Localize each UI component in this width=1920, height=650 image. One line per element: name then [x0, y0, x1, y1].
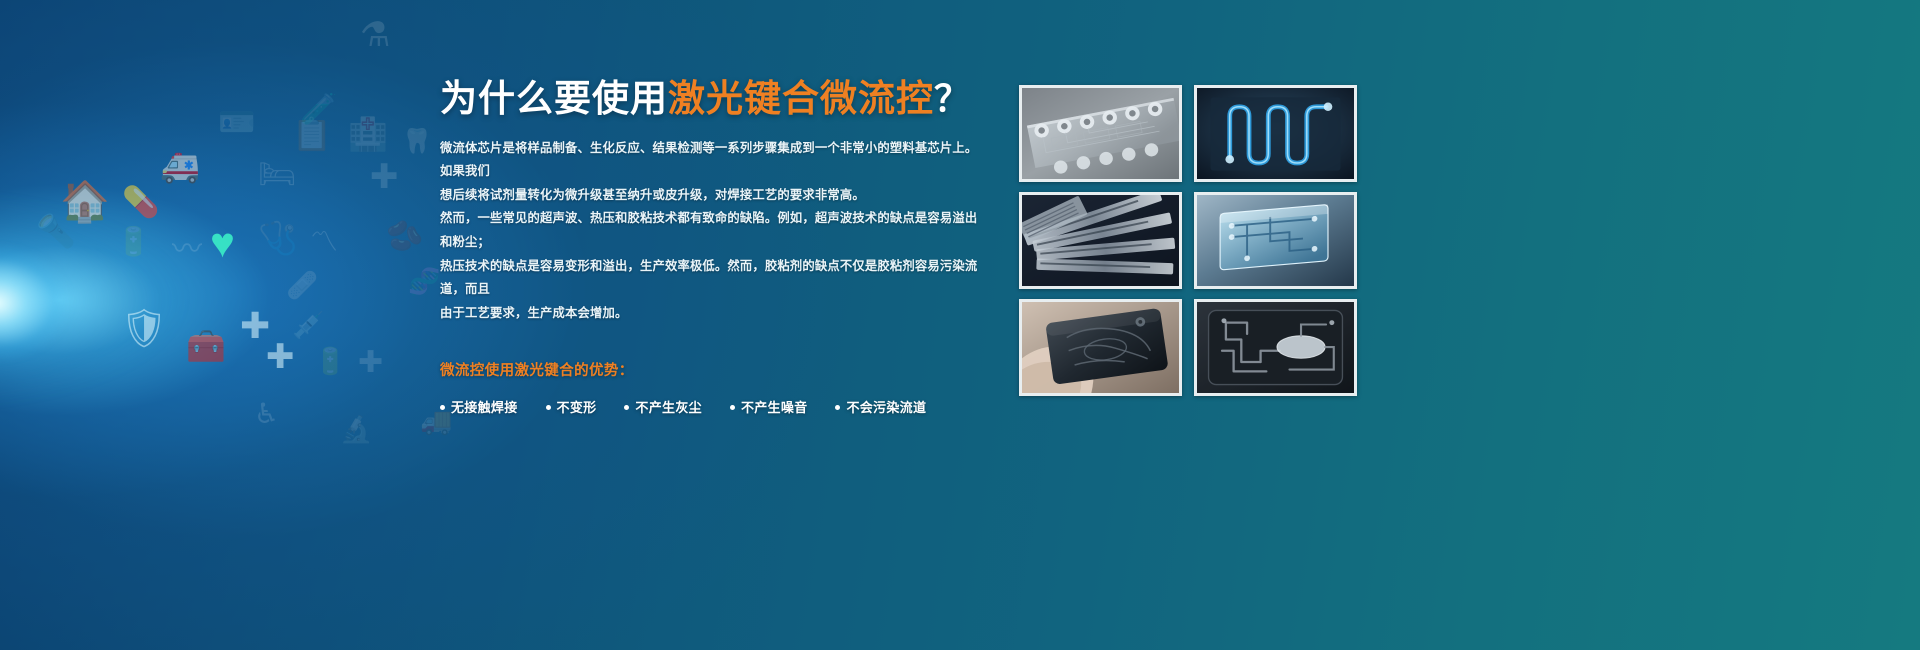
gallery-item[interactable] [1194, 299, 1357, 396]
bandage-icon: 🩹 [286, 272, 318, 298]
battery-icon: 🔋 [116, 228, 151, 256]
ambulance-icon: 🚑 [160, 150, 200, 182]
id-card-icon: 🪪 [218, 108, 255, 138]
flask-icon: ⚗ [360, 18, 390, 52]
gallery-item[interactable] [1194, 85, 1357, 182]
bullet-dot-icon [440, 405, 445, 410]
list-item: 不产生噪音 [730, 397, 808, 416]
microscope-icon: 🔬 [340, 416, 372, 442]
first-aid-kit-icon: 🧰 [186, 330, 226, 362]
bullet-dot-icon [546, 405, 551, 410]
heartbeat-icon: 〰 [172, 235, 202, 265]
kidney-icon: 🫘 [386, 222, 423, 252]
bed-icon: 🛏 [258, 160, 296, 190]
stethoscope-icon: 🩺 [258, 222, 298, 254]
list-item: 不产生灰尘 [624, 397, 702, 416]
black-cartridge-with-channels [1197, 302, 1354, 393]
microfluidic-chip-row-of-wells [1022, 88, 1179, 179]
advantage-label: 不产生噪音 [741, 400, 808, 415]
gallery-item[interactable] [1019, 85, 1182, 182]
battery-icon: 🔋 [314, 348, 346, 374]
bullet-dot-icon [835, 405, 840, 410]
tooth-icon: 🦷 [402, 130, 432, 154]
banner-text-content: 为什么要使用激光键合微流控？ 微流体芯片是将样品制备、生化反应、结果检测等一系列… [440, 78, 985, 416]
pill-icon: 💊 [122, 188, 159, 218]
title-lead: 为什么要使用 [440, 78, 668, 119]
paragraph-line: 热压技术的缺点是容易变形和溢出，生产效率极低。然而，胶粘剂的缺点不仅是胶粘剂容易… [440, 255, 985, 302]
product-gallery [1019, 85, 1357, 396]
black-polymer-chip-in-hand [1022, 302, 1179, 393]
paragraph-line: 想后续将试剂量转化为微升级甚至纳升或皮升级，对焊接工艺的要求非常高。 [440, 184, 985, 208]
cross-icon: ✚ [370, 160, 399, 194]
list-item: 不变形 [546, 397, 597, 416]
title-question-mark: ？ [934, 78, 971, 119]
promo-banner: ⚗ 🧪 🪪 📋 🏥 🚑 🛏 ✚ 🏠 💊 🔋 🔦 〰 ♥ 🩺 〽 🫘 🩹 💉 🧬 … [0, 0, 1920, 650]
gallery-item[interactable] [1194, 192, 1357, 289]
paragraph-line: 由于工艺要求，生产成本会增加。 [440, 302, 985, 326]
microfluidic-serpentine-channel-chip [1197, 88, 1354, 179]
advantages-list: 无接触焊接 不变形 不产生灰尘 不产生噪音 不会污染流道 [440, 397, 985, 416]
heart-icon: ♥ [210, 222, 235, 264]
pulse-icon: 〽 [310, 228, 338, 256]
home-cross-icon: 🏠 [60, 182, 110, 222]
advantage-label: 不会污染流道 [846, 400, 926, 415]
clipboard-icon: 📋 [292, 118, 332, 150]
test-tube-icon: 🧪 [300, 95, 337, 125]
syringe-icon: 💉 [292, 312, 324, 338]
bullet-dot-icon [624, 405, 629, 410]
bullet-dot-icon [730, 405, 735, 410]
advantages-subheading: 微流控使用激光键合的优势： [440, 359, 985, 380]
list-item: 无接触焊接 [440, 397, 518, 416]
gallery-item[interactable] [1019, 299, 1182, 396]
shield-cross-icon: 🛡 [120, 310, 168, 348]
microfluidic-chip-strip-array [1022, 195, 1179, 286]
advantage-label: 无接触焊接 [451, 400, 518, 415]
dna-icon: 🧬 [408, 268, 440, 294]
advantage-label: 不变形 [557, 400, 597, 415]
paragraph-line: 微流体芯片是将样品制备、生化反应、结果检测等一系列步骤集成到一个非常小的塑料基芯… [440, 137, 985, 184]
title-highlight: 激光键合微流控 [668, 78, 934, 119]
cross-icon: ✚ [358, 348, 383, 378]
lamp-icon: 🔦 [36, 215, 76, 247]
light-core-decoration [0, 228, 130, 378]
advantage-label: 不产生灰尘 [635, 400, 702, 415]
gallery-item[interactable] [1019, 192, 1182, 289]
wheelchair-icon: ♿ [254, 400, 279, 428]
intro-paragraph: 微流体芯片是将样品制备、生化反应、结果检测等一系列步骤集成到一个非常小的塑料基芯… [440, 137, 985, 326]
microfluidic-manifold-block [1197, 195, 1354, 286]
list-item: 不会污染流道 [835, 397, 926, 416]
page-title: 为什么要使用激光键合微流控？ [440, 78, 985, 121]
hospital-icon: 🏥 [348, 118, 388, 150]
cross-icon: ✚ [266, 340, 295, 374]
cross-icon: ✚ [240, 308, 270, 344]
paragraph-line: 然而，一些常见的超声波、热压和胶粘技术都有致命的缺陷。例如，超声波技术的缺点是容… [440, 207, 985, 254]
